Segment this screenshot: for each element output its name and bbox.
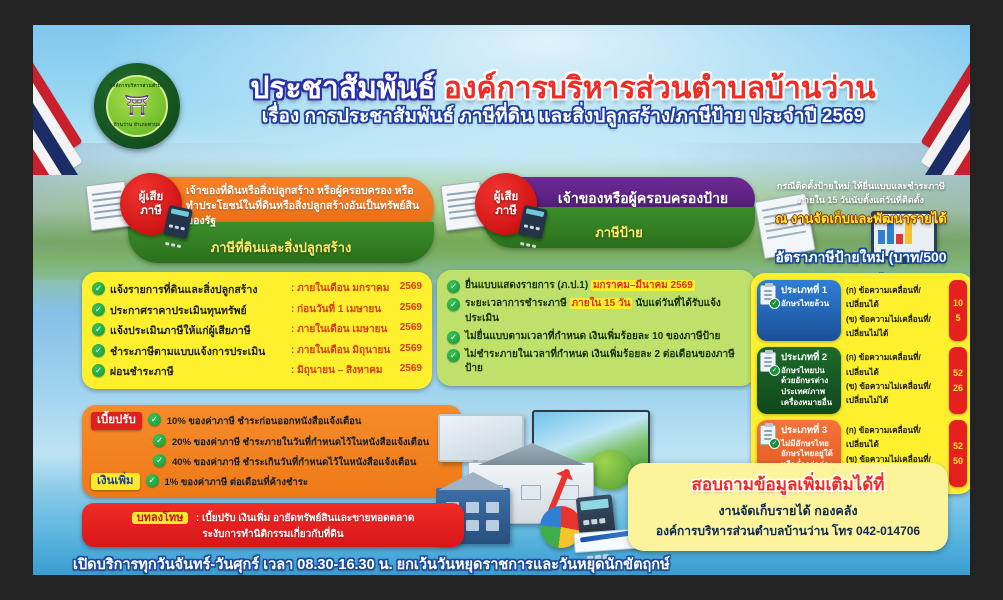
list-item: เบี้ยปรับ ✓ 10% ของค่าภาษี ชำระก่อนออกหน…: [91, 412, 453, 430]
rate-a: 52: [953, 441, 963, 451]
sign-type-conditions: (ก) ข้อความเคลื่อนที่/เปลี่ยนได้ (ข) ข้อ…: [846, 347, 944, 414]
schedule-label: แจ้งรายการที่ดินและสิ่งปลูกสร้าง: [110, 281, 286, 298]
sign-type-name: ประเภทที่ 2: [781, 352, 836, 365]
rate-b: 5: [955, 313, 960, 323]
sign-type-tag-1: ✓ ประเภทที่ 1 อักษรไทยล้วน: [757, 280, 841, 341]
table-row: ✓ ประเภทที่ 1 อักษรไทยล้วน (ก) ข้อความเค…: [757, 280, 967, 341]
check-icon: ✓: [92, 303, 105, 316]
condition-a: (ก) ข้อความเคลื่อนที่/เปลี่ยนได้: [846, 424, 944, 453]
sign-type-name: ประเภทที่ 1: [781, 285, 836, 298]
contact-office: งานจัดเก็บรายได้ กองคลัง: [638, 501, 938, 521]
check-icon: ✓: [769, 365, 780, 376]
law-tag: บทลงโทษ: [132, 512, 189, 524]
poster-canvas: องค์การบริหารส่วนตำบล ⛩ บ้านว่าน อำเภอท่…: [33, 25, 970, 575]
contact-organization-phone: องค์การบริหารส่วนตำบลบ้านว่าน โทร 042-01…: [638, 522, 938, 541]
notice-emphasis: ณ งานจัดเก็บและพัฒนารายได้: [757, 209, 965, 229]
schedule-when: : ภายในเดือน มกราคม: [291, 281, 395, 296]
check-icon: ✓: [769, 298, 780, 309]
list-item: ✓ ไม่ยื่นแบบตามเวลาที่กำหนด เงินเพิ่มร้อ…: [447, 330, 745, 345]
check-icon: ✓: [153, 434, 166, 447]
contact-card: สอบถามข้อมูลเพิ่มเติมได้ที่ งานจัดเก็บรา…: [628, 463, 948, 551]
schedule-year: 2569: [400, 302, 422, 313]
sign-type-conditions: (ก) ข้อความเคลื่อนที่/เปลี่ยนได้ (ข) ข้อ…: [846, 280, 944, 341]
tree-icon: [588, 450, 632, 490]
taxpayer-badge-line1: ผู้เสีย: [139, 190, 163, 204]
list-item: ✓ ระยะเวลาการชำระภาษี ภายใน 15 วัน นับแต…: [447, 297, 745, 326]
check-icon: ✓: [92, 344, 105, 357]
seal-ring-bottom-text: บ้านว่าน อำเภอท่าบ่อ: [108, 122, 166, 129]
title-red-part: องค์การบริหารส่วนตำบลบ้านว่าน: [444, 72, 876, 105]
taxpayer-badge-line2: ภาษี: [140, 204, 162, 218]
fine-row-text: 10% ของค่าภาษี ชำระก่อนออกหนังสือแจ้งเตื…: [167, 412, 362, 429]
condition-a: (ก) ข้อความเคลื่อนที่/เปลี่ยนได้: [846, 351, 944, 380]
schedule-label: แจ้งประเมินภาษีให้แก่ผู้เสียภาษี: [110, 322, 286, 339]
sign-type-tag-2: ✓ ประเภทที่ 2 อักษรไทยปนด้วยอักษรต่างประ…: [757, 347, 841, 414]
sign-type-desc: อักษรไทยปนด้วยอักษรต่างประเทศ/ภาพเครื่อง…: [781, 366, 832, 407]
schedule-when: : ก่อนวันที่ 1 เมษายน: [291, 302, 395, 317]
sign-rule-text: ไม่ยื่นแบบตามเวลาที่กำหนด เงินเพิ่มร้อยล…: [465, 330, 720, 345]
check-icon: ✓: [447, 331, 460, 344]
law-line-2: ระงับการทำนิติกรรมเกี่ยวกับที่ดิน: [92, 527, 454, 542]
check-icon: ✓: [92, 364, 105, 377]
surcharge-row-text: 1% ของค่าภาษี ต่อเดือนที่ค้างชำระ: [165, 473, 308, 490]
sign-tax-footer-label: ภาษีป้าย: [595, 225, 643, 240]
sign-type-name: ประเภทที่ 3: [781, 425, 836, 438]
rate-a: 10: [953, 298, 963, 308]
service-hours-text: เปิดบริการทุกวันจันทร์-วันศุกร์ เวลา 08.…: [73, 553, 733, 575]
seal-glyph-icon: ⛩: [124, 96, 149, 116]
page-subtitle: เรื่อง การประชาสัมพันธ์ ภาษีที่ดิน และสิ…: [183, 107, 943, 127]
table-row: ✓ ประกาศราคาประเมินทุนทรัพย์ : ก่อนวันที…: [92, 302, 422, 319]
schedule-year: 2569: [400, 322, 422, 333]
check-icon: ✓: [92, 323, 105, 336]
table-row: ✓ แจ้งรายการที่ดินและสิ่งปลูกสร้าง : ภาย…: [92, 281, 422, 298]
sign-type-rates: 10 5: [949, 280, 967, 341]
table-row: ✓ ประเภทที่ 2 อักษรไทยปนด้วยอักษรต่างประ…: [757, 347, 967, 414]
rate-a: 52: [953, 368, 963, 378]
schedule-year: 2569: [400, 363, 422, 374]
check-icon: ✓: [447, 349, 460, 362]
schedule-when: : มิถุนายน – สิงหาคม: [291, 363, 395, 378]
check-icon: ✓: [153, 454, 166, 467]
seal-ring-top-text: องค์การบริหารส่วนตำบล: [108, 83, 166, 90]
fine-row-text: 20% ของค่าภาษี ชำระภายในวันที่กำหนดไว้ใน…: [172, 433, 429, 450]
page-title: ประชาสัมพันธ์ องค์การบริหารส่วนตำบลบ้านว…: [183, 73, 943, 127]
sign-type-rates: 52 50: [949, 420, 967, 487]
land-tax-schedule-card: ✓ แจ้งรายการที่ดินและสิ่งปลูกสร้าง : ภาย…: [82, 272, 432, 389]
rate-b: 26: [953, 383, 963, 393]
check-icon: ✓: [146, 474, 159, 487]
condition-b: (ข) ข้อความไม่เคลื่อนที่/เปลี่ยนไม่ได้: [846, 380, 944, 409]
list-item: ✓ ไม่ชำระภายในเวลาที่กำหนด เงินเพิ่มร้อย…: [447, 348, 745, 377]
fine-tag: เบี้ยปรับ: [91, 412, 142, 430]
sign-taxpayer-banner: ผู้เสีย ภาษี เจ้าของหรือผู้ครอบครองป้าย …: [437, 177, 755, 248]
table-row: ✓ ชำระภาษีตามแบบแจ้งการประเมิน : ภายในเด…: [92, 343, 422, 360]
taxpayer-badge-line1: ผู้เสีย: [494, 190, 518, 204]
land-tax-footer-label: ภาษีที่ดินและสิ่งปลูกสร้าง: [211, 240, 352, 255]
check-icon: ✓: [447, 280, 460, 293]
notice-line-1: กรณีติดตั้งป้ายใหม่ ให้ยื่นแบบและชำระภาษ…: [757, 180, 965, 194]
surcharge-tag: เงินเพิ่ม: [91, 473, 140, 491]
schedule-label: ชำระภาษีตามแบบแจ้งการประเมิน: [110, 343, 286, 360]
schedule-year: 2569: [400, 343, 422, 354]
check-icon: ✓: [92, 282, 105, 295]
schedule-year: 2569: [400, 281, 422, 292]
new-sign-notice: กรณีติดตั้งป้ายใหม่ ให้ยื่นแบบและชำระภาษ…: [757, 180, 965, 229]
condition-a: (ก) ข้อความเคลื่อนที่/เปลี่ยนได้: [846, 284, 944, 313]
schedule-when: : ภายในเดือน เมษายน: [291, 322, 395, 337]
organization-seal-icon: องค์การบริหารส่วนตำบล ⛩ บ้านว่าน อำเภอท่…: [94, 63, 180, 149]
contact-heading: สอบถามข้อมูลเพิ่มเติมได้ที่: [638, 471, 938, 498]
schedule-when: : ภายในเดือน มิถุนายน: [291, 343, 395, 358]
legal-penalty-bar: บทลงโทษ : เบี้ยปรับ เงินเพิ่ม อายัดทรัพย…: [82, 503, 464, 547]
sign-rate-table: ✓ ประเภทที่ 1 อักษรไทยล้วน (ก) ข้อความเค…: [751, 273, 970, 494]
sign-rule-text: ไม่ชำระภายในเวลาที่กำหนด เงินเพิ่มร้อยละ…: [465, 348, 745, 377]
fine-row-text: 40% ของค่าภาษี ชำระเกินวันที่กำหนดไว้ในห…: [172, 453, 416, 470]
list-item: ✓ 40% ของค่าภาษี ชำระเกินวันที่กำหนดไว้ใ…: [91, 453, 453, 470]
list-item: ✓ 20% ของค่าภาษี ชำระภายในวันที่กำหนดไว้…: [91, 433, 453, 450]
table-row: ✓ ผ่อนชำระภาษี : มิถุนายน – สิงหาคม 2569: [92, 363, 422, 380]
law-line-1: : เบี้ยปรับ เงินเพิ่ม อายัดทรัพย์สินและข…: [196, 513, 415, 524]
rate-b: 50: [953, 456, 963, 466]
condition-b: (ข) ข้อความไม่เคลื่อนที่/เปลี่ยนไม่ได้: [846, 313, 944, 342]
list-item: เงินเพิ่ม ✓ 1% ของค่าภาษี ต่อเดือนที่ค้า…: [91, 473, 453, 491]
penalty-panel: เบี้ยปรับ ✓ 10% ของค่าภาษี ชำระก่อนออกหน…: [82, 405, 462, 497]
sign-rule-text: ระยะเวลาการชำระภาษี ภายใน 15 วัน นับแต่ว…: [465, 297, 745, 326]
check-icon: ✓: [148, 413, 161, 426]
schedule-label: ผ่อนชำระภาษี: [110, 363, 286, 380]
sign-type-rates: 52 26: [949, 347, 967, 414]
check-icon: ✓: [769, 438, 780, 449]
land-taxpayer-banner: ผู้เสีย ภาษี เจ้าของที่ดินหรือสิ่งปลูกสร…: [82, 177, 434, 263]
title-white-part: ประชาสัมพันธ์: [250, 72, 435, 105]
notice-line-2: ภายใน 15 วันนับตั้งแต่วันที่ติดตั้ง: [757, 194, 965, 208]
sign-rule-text: ยื่นแบบแสดงรายการ (ภ.ป.1) มกราคม–มีนาคม …: [465, 279, 695, 294]
sign-type-desc: อักษรไทยล้วน: [781, 299, 829, 308]
table-row: ✓ แจ้งประเมินภาษีให้แก่ผู้เสียภาษี : ภาย…: [92, 322, 422, 339]
schedule-label: ประกาศราคาประเมินทุนทรัพย์: [110, 302, 286, 319]
sign-tax-rules-card: ✓ ยื่นแบบแสดงรายการ (ภ.ป.1) มกราคม–มีนาค…: [437, 270, 755, 386]
check-icon: ✓: [447, 298, 460, 311]
taxpayer-badge-line2: ภาษี: [495, 204, 517, 218]
list-item: ✓ ยื่นแบบแสดงรายการ (ภ.ป.1) มกราคม–มีนาค…: [447, 279, 745, 294]
